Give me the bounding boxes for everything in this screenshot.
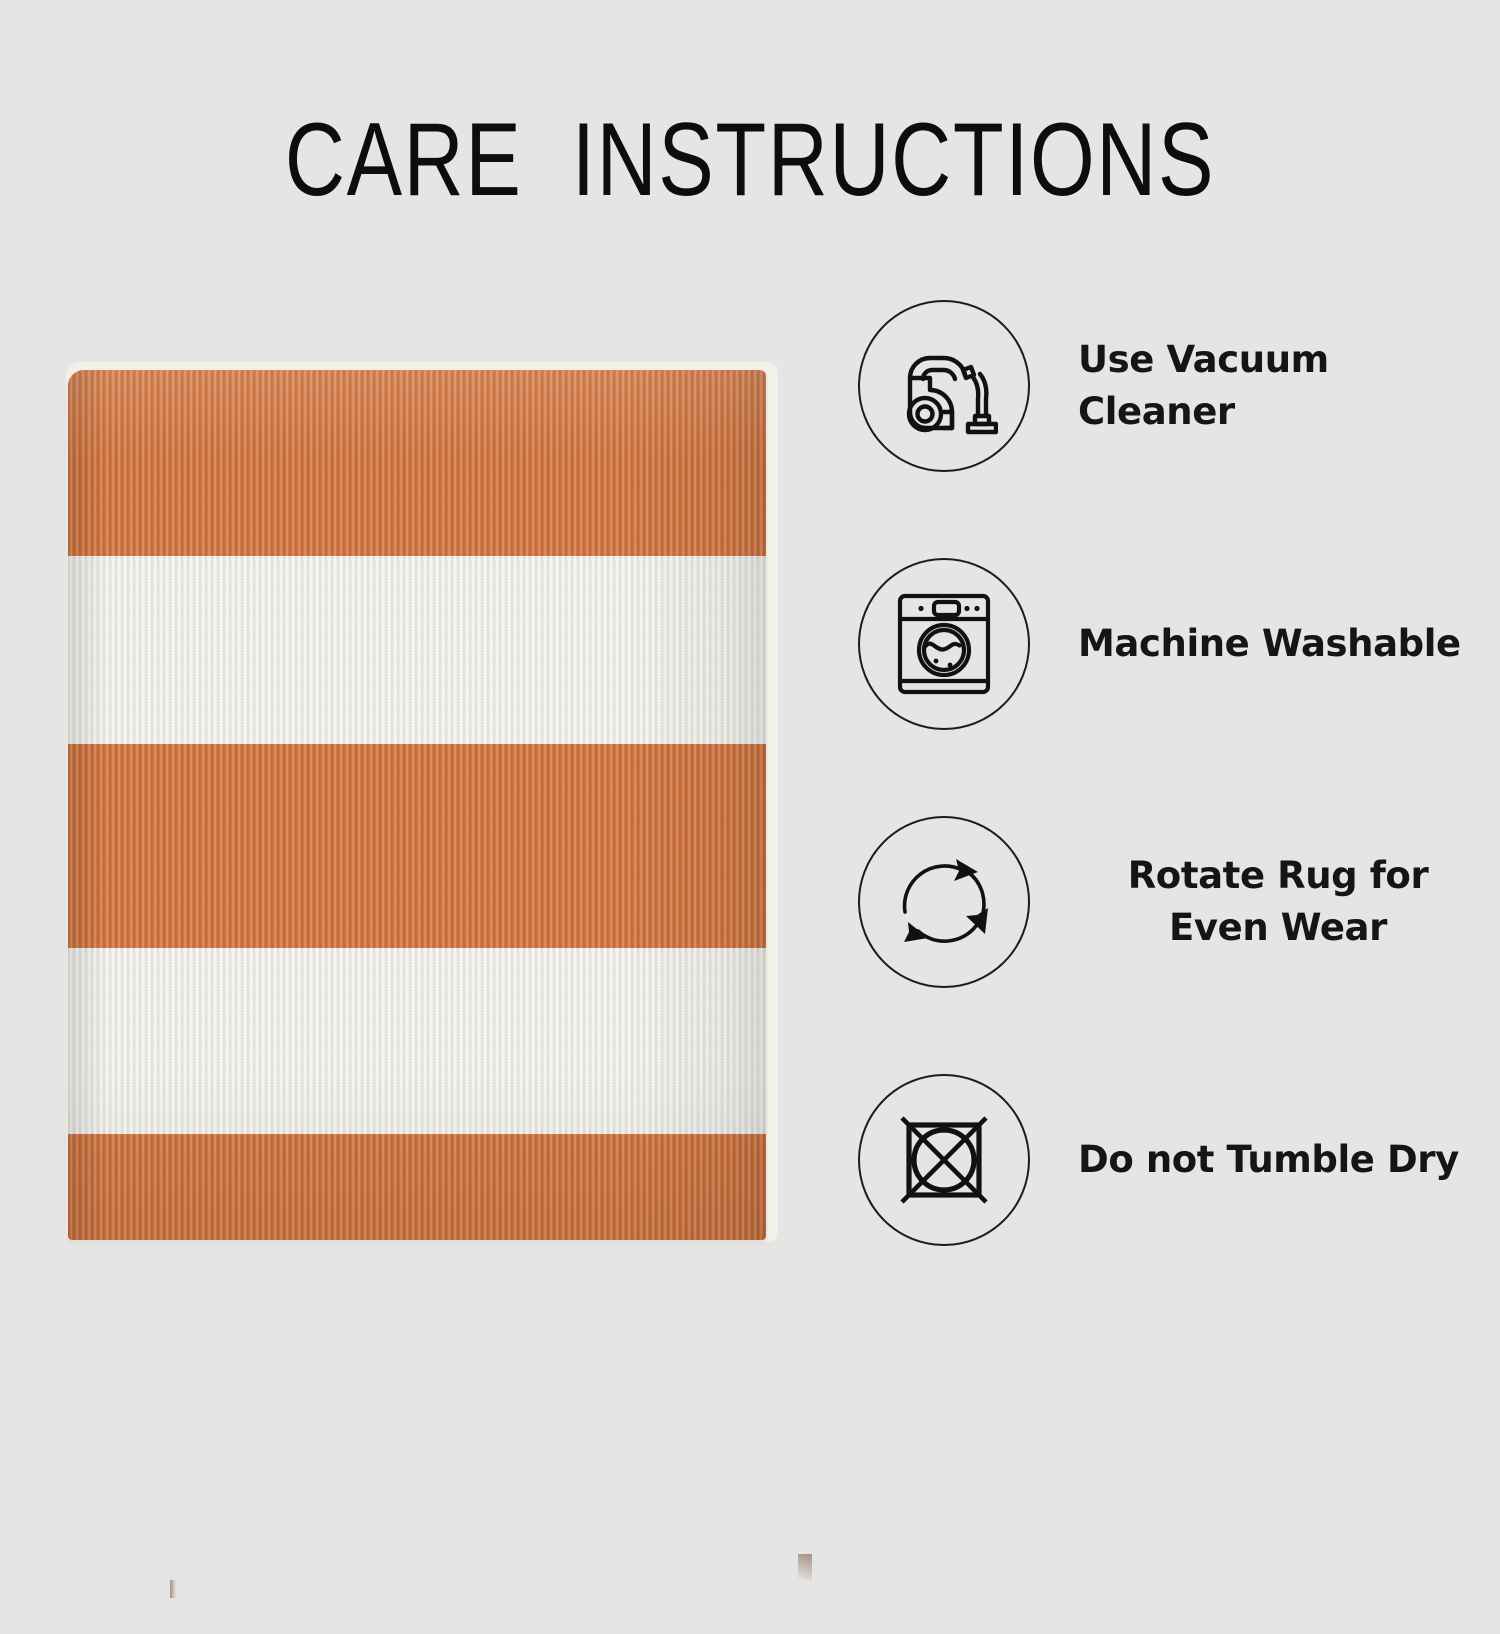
page-title: CARE INSTRUCTIONS: [150, 108, 1350, 212]
icon-badge-vacuum: [858, 300, 1030, 472]
instruction-label: Do not Tumble Dry: [1078, 1134, 1478, 1186]
instruction-row-use-vacuum-cleaner: Use Vacuum Cleaner: [858, 300, 1478, 472]
rug-rib-texture: [68, 556, 766, 744]
rotate-arrows-icon: [888, 846, 1000, 958]
rug-stripe-white: [68, 556, 766, 744]
instruction-row-do-not-tumble-dry: Do not Tumble Dry: [858, 1074, 1478, 1246]
rug-stripe-white: [68, 948, 766, 1134]
instruction-label: Machine Washable: [1078, 618, 1478, 670]
instruction-row-machine-washable: Machine Washable: [858, 558, 1478, 730]
rug-fold-notch-bottom-left: [58, 1594, 120, 1634]
icon-badge-rotate: [858, 816, 1030, 988]
rug-fold-shadow-bottom-left: [170, 1580, 176, 1598]
vacuum-cleaner-icon: [890, 332, 998, 440]
care-instructions-page: CARE INSTRUCTIONS: [0, 0, 1500, 1312]
icon-badge-washing-machine: [858, 558, 1030, 730]
instruction-label: Use Vacuum Cleaner: [1078, 334, 1478, 438]
instruction-row-rotate-rug-for-even-wear: Rotate Rug for Even Wear: [858, 816, 1478, 988]
instruction-label: Rotate Rug for Even Wear: [1078, 850, 1478, 954]
rug-fold-shadow-bottom-right: [798, 1554, 812, 1580]
rug-surface: [68, 370, 766, 1240]
icon-badge-no-tumble-dry: [858, 1074, 1030, 1246]
washing-machine-icon: [892, 589, 996, 699]
rug-fold-notch-bottom-right: [806, 1572, 866, 1634]
product-rug-image: [58, 358, 798, 1258]
rug-rib-texture: [68, 948, 766, 1134]
no-tumble-dry-icon: [892, 1108, 996, 1212]
